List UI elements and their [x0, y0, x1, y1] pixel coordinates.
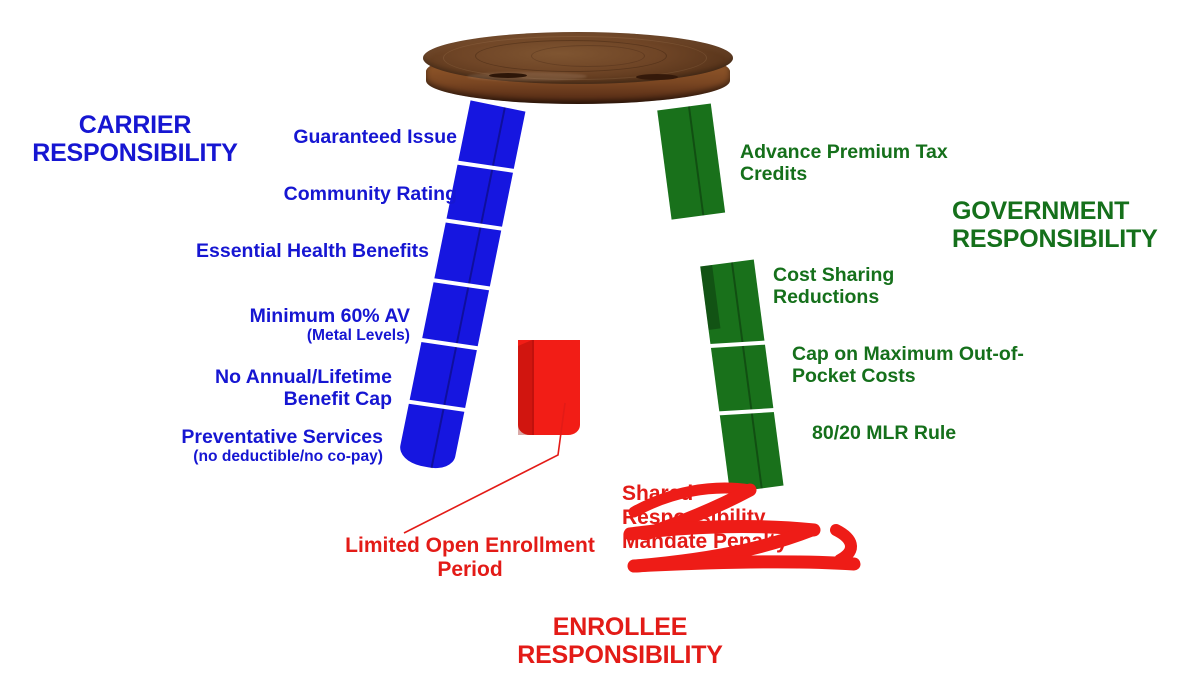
carrier-item-essential-health-benefits: Essential Health Benefits — [190, 240, 429, 262]
stool-seat-nick — [489, 73, 527, 78]
carrier-item-label: Community Rating — [284, 183, 457, 205]
red-scribble-strikeout-icon — [600, 468, 870, 588]
carrier-item-label: No Annual/Lifetime Benefit Cap — [215, 366, 392, 410]
government-item-80-20-mlr-rule: 80/20 MLR Rule — [812, 422, 1012, 444]
carrier-item-community-rating: Community Rating — [186, 183, 457, 205]
enrollee-heading-line2: RESPONSIBILITY — [455, 641, 785, 669]
carrier-item-label: Guaranteed Issue — [293, 126, 457, 148]
government-leg-green-lower — [700, 259, 783, 492]
stool-seat — [423, 32, 733, 108]
government-responsibility-heading: GOVERNMENT RESPONSIBILITY — [952, 197, 1200, 253]
carrier-item-label: Minimum 60% AV — [250, 305, 410, 327]
diagram-canvas: CARRIER RESPONSIBILITY GOVERNMENT RESPON… — [0, 0, 1200, 689]
enrollee-heading-line1: ENROLLEE — [455, 613, 785, 641]
enrollee-item-shared-responsibility-mandate-penalty: Shared Responsibility Mandate Penalty — [622, 482, 842, 568]
government-item-cost-sharing-reductions: Cost Sharing Reductions — [773, 264, 963, 308]
government-heading-line2: RESPONSIBILITY — [952, 225, 1200, 253]
carrier-item-preventative-services: Preventative Services (no deductible/no … — [140, 426, 383, 466]
government-item-label: Cap on Maximum Out-of-Pocket Costs — [792, 343, 1024, 387]
government-heading-line1: GOVERNMENT — [952, 197, 1200, 225]
carrier-item-no-annual-lifetime-benefit-cap: No Annual/Lifetime Benefit Cap — [160, 366, 392, 410]
carrier-item-minimum-av: Minimum 60% AV (Metal Levels) — [190, 305, 410, 345]
carrier-item-label: Essential Health Benefits — [196, 240, 429, 262]
government-item-cap-on-maximum-out-of-pocket-costs: Cap on Maximum Out-of-Pocket Costs — [792, 343, 1047, 387]
carrier-item-label: Preventative Services — [181, 426, 383, 448]
enrollee-item-label: Limited Open Enrollment Period — [345, 534, 595, 581]
stool-seat-highlight — [467, 72, 587, 81]
government-item-label: Cost Sharing Reductions — [773, 264, 894, 308]
government-item-advance-premium-tax-credits: Advance Premium Tax Credits — [740, 141, 970, 185]
government-item-label: Advance Premium Tax Credits — [740, 141, 948, 185]
stool-seat-nick — [636, 74, 678, 80]
carrier-item-sublabel: (no deductible/no co-pay) — [140, 448, 383, 466]
carrier-item-sublabel: (Metal Levels) — [190, 327, 410, 345]
stool-seat-grain — [531, 45, 645, 67]
enrollee-item-limited-open-enrollment-period: Limited Open Enrollment Period — [325, 534, 615, 582]
enrollee-pointer-line — [380, 395, 580, 545]
carrier-item-guaranteed-issue: Guaranteed Issue — [200, 126, 457, 148]
stool-seat-top — [423, 32, 733, 84]
government-item-label: 80/20 MLR Rule — [812, 422, 956, 444]
enrollee-responsibility-heading: ENROLLEE RESPONSIBILITY — [455, 613, 785, 669]
government-leg-green-upper — [657, 103, 725, 219]
